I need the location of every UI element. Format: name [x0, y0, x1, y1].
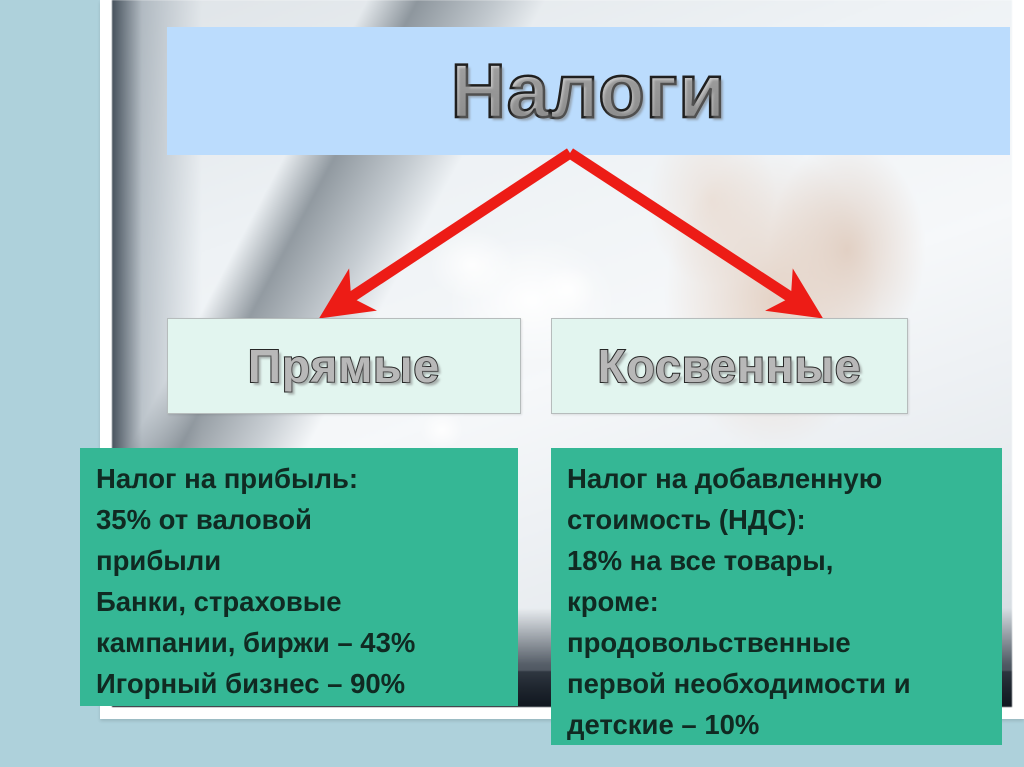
detail-box-indirect: Налог на добавленную стоимость (НДС): 18… [551, 448, 1002, 745]
detail-box-direct: Налог на прибыль: 35% от валовой прибыли… [80, 448, 518, 706]
slide-canvas: Налоги Прямые Косвенные Налог на прибыль… [0, 0, 1024, 767]
category-box-indirect: Косвенные [551, 318, 908, 414]
category-box-direct: Прямые [167, 318, 521, 414]
category-label-direct: Прямые [248, 339, 440, 393]
page-title: Налоги [451, 48, 726, 135]
category-label-indirect: Косвенные [598, 339, 862, 393]
title-box: Налоги [167, 27, 1010, 155]
